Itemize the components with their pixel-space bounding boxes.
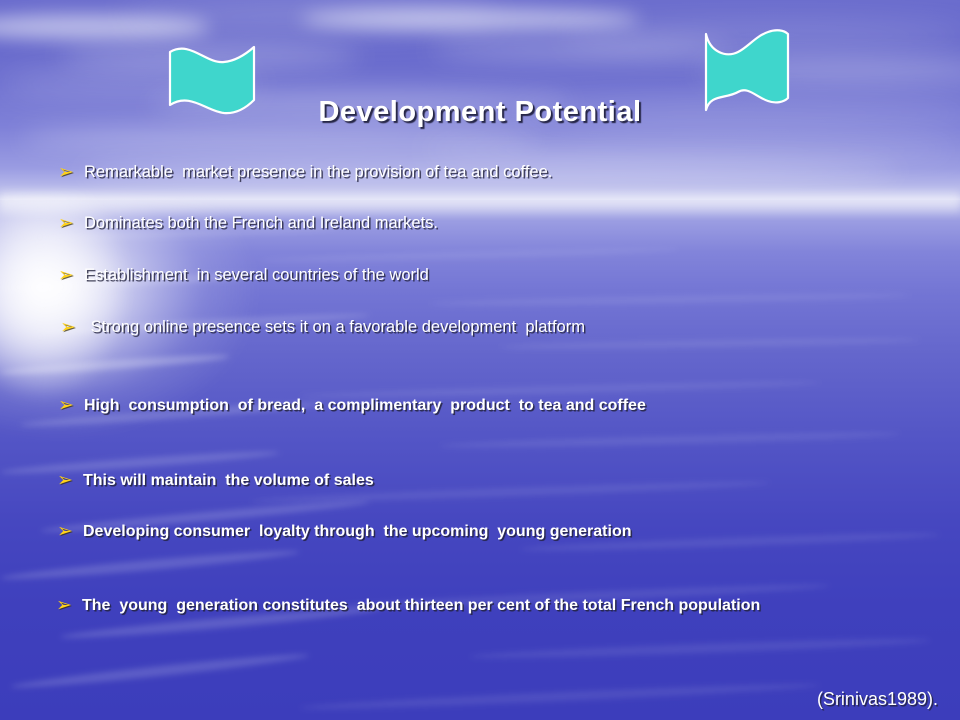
list-item: ➢ Remarkable market presence in the prov…: [58, 162, 758, 184]
presentation-slide: Development Potential ➢ Remarkable marke…: [0, 0, 960, 720]
list-item: ➢ This will maintain the volume of sales: [57, 470, 757, 492]
list-item-text: Developing consumer loyalty through the …: [83, 521, 631, 542]
bullet-arrow-icon: ➢: [58, 162, 84, 184]
list-item-text: Remarkable market presence in the provis…: [84, 162, 552, 183]
list-item-text: Dominates both the French and Ireland ma…: [84, 213, 438, 234]
bullet-arrow-icon: ➢: [58, 395, 84, 417]
bullet-list: ➢ Remarkable market presence in the prov…: [0, 150, 960, 670]
list-item: ➢ The young generation constitutes about…: [56, 595, 826, 617]
list-item: ➢ High consumption of bread, a complimen…: [58, 395, 818, 417]
citation-text: (Srinivas1989).: [817, 689, 938, 710]
list-item: ➢ Establishment in several countries of …: [58, 265, 758, 287]
list-item-text: High consumption of bread, a complimenta…: [84, 395, 646, 416]
bullet-arrow-icon: ➢: [58, 265, 84, 287]
bullet-arrow-icon: ➢: [56, 595, 82, 617]
list-item: ➢ Dominates both the French and Ireland …: [58, 213, 758, 235]
list-item: ➢ Developing consumer loyalty through th…: [57, 521, 817, 543]
list-item-text: The young generation constitutes about t…: [82, 595, 760, 616]
bullet-arrow-icon: ➢: [60, 317, 86, 339]
bullet-arrow-icon: ➢: [57, 521, 83, 543]
list-item-text: Strong online presence sets it on a favo…: [86, 317, 585, 338]
bullet-arrow-icon: ➢: [57, 470, 83, 492]
slide-title: Development Potential: [0, 96, 960, 129]
bullet-arrow-icon: ➢: [58, 213, 84, 235]
list-item-text: Establishment in several countries of th…: [84, 265, 429, 286]
list-item: ➢ Strong online presence sets it on a fa…: [60, 317, 800, 339]
list-item-text: This will maintain the volume of sales: [83, 470, 374, 491]
